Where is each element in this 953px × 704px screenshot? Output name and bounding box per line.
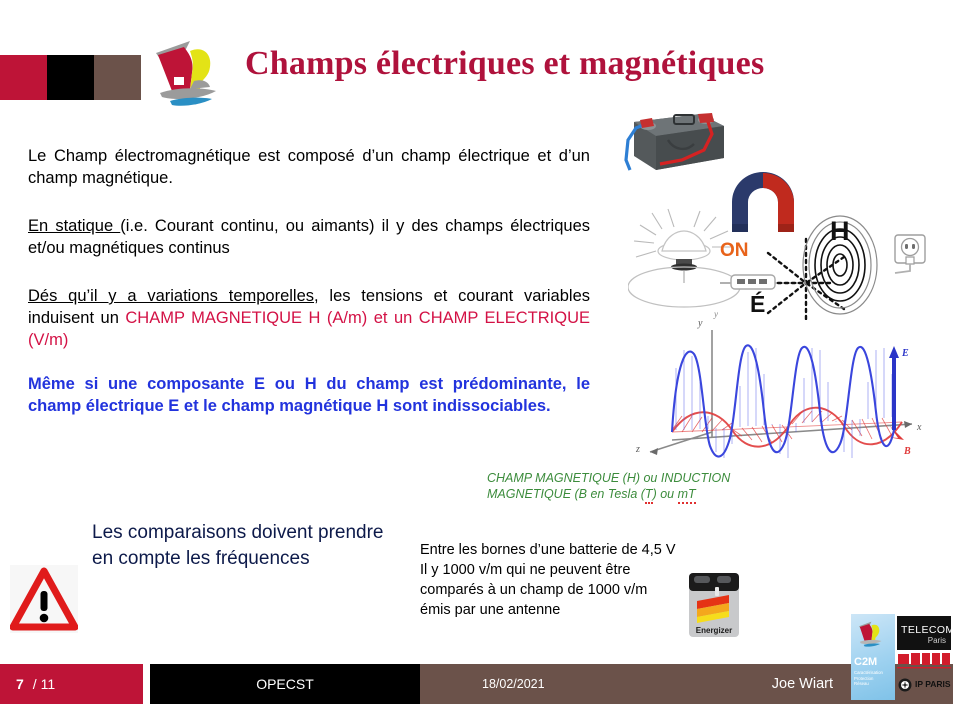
axis-label-y: y (697, 318, 703, 329)
telecom-paris-logo-line-1: TELECOM (901, 624, 953, 636)
svg-text:Energizer: Energizer (696, 626, 732, 635)
paragraph-1: Le Champ électromagnétique est composé d… (28, 145, 590, 189)
field-label-b: B (903, 446, 911, 457)
footer-page-total: / 11 (33, 676, 55, 692)
c2m-head-logo (150, 33, 236, 113)
axis-label-z: z (635, 444, 640, 455)
header-block-black (47, 55, 94, 100)
slide-canvas: Champs électriques et magnétiques Le Cha… (0, 0, 953, 704)
telecom-paris-logo: TELECOM Paris (897, 616, 951, 650)
battery-note-line-3: comparés à un champ de 1000 v/m (420, 580, 680, 600)
warning-triangle-icon (10, 565, 78, 633)
ip-paris-logo: IP PARIS (897, 676, 951, 694)
electromagnetic-wave-diagram: y x z B E (612, 312, 942, 462)
warning-text: Les comparaisons doivent prendre en comp… (92, 520, 392, 572)
chinese-characters-logo (897, 651, 951, 671)
header-block-crimson (0, 55, 47, 100)
green-caption-tesla: T (645, 487, 653, 504)
car-battery-photo (612, 104, 732, 182)
battery-note-line-4: émis par une antenne (420, 600, 680, 620)
battery-note-text: Entre les bornes d’une batterie de 4,5 V… (420, 540, 680, 620)
c2m-logo-subtext: CaractérisationProtectionRéseau (854, 670, 883, 687)
energizer-battery-image: Energizer (683, 565, 745, 643)
battery-note-line-2: Il y 1000 v/m qui ne peuvent être (420, 560, 680, 580)
paragraph-2: En statique (i.e. Courant continu, ou ai… (28, 215, 590, 259)
field-label-e: E (901, 348, 909, 359)
paragraph-3-underlined: Dés qu’il y a variations temporelles (28, 287, 314, 305)
ip-paris-logo-text: IP PARIS (915, 679, 951, 689)
green-caption-line-2-b: ) ou (653, 487, 678, 501)
footer-logos: C2M CaractérisationProtectionRéseau TELE… (851, 614, 951, 702)
green-caption: CHAMP MAGNETIQUE (H) ou INDUCTION MAGNET… (487, 470, 777, 502)
header-block-brown (94, 55, 141, 100)
footer-author: Joe Wiart (772, 676, 833, 692)
green-caption-line-2-a: MAGNETIQUE (B en Tesla ( (487, 487, 645, 501)
header-color-blocks (0, 55, 141, 100)
footer-page-indicator: 7 / 11 (0, 664, 143, 704)
label-h-field: H (830, 216, 850, 247)
green-caption-line-2: MAGNETIQUE (B en Tesla (T) ou mT (487, 486, 777, 502)
label-e-field: É (750, 291, 765, 318)
c2m-logo-box: C2M CaractérisationProtectionRéseau (851, 614, 895, 700)
footer-gap (143, 664, 150, 704)
paragraph-4-blue: Même si une composante E ou H du champ e… (28, 373, 590, 417)
paragraph-3: Dés qu’il y a variations temporelles, le… (28, 285, 590, 351)
paragraph-2-underlined: En statique (28, 217, 120, 235)
footer-page-current: 7 (16, 676, 24, 692)
page-title: Champs électriques et magnétiques (245, 45, 935, 83)
footer-date: 18/02/2021 (482, 677, 545, 691)
wall-outlet-icon (893, 233, 933, 275)
green-caption-line-1: CHAMP MAGNETIQUE (H) ou INDUCTION (487, 470, 777, 486)
body-text-column: Le Champ électromagnétique est composé d… (28, 145, 590, 417)
c2m-logo-text: C2M (854, 656, 877, 668)
ip-paris-mark-icon (898, 678, 912, 692)
label-on: ON (720, 240, 749, 262)
green-caption-mt: mT (678, 487, 696, 504)
c2m-head-icon (856, 618, 890, 650)
telecom-paris-logo-line-2: Paris (928, 636, 946, 645)
slide-footer: 7 / 11 OPECST 18/02/2021 Joe Wiart (0, 664, 953, 704)
battery-note-line-1: Entre les bornes d’une batterie de 4,5 V (420, 540, 680, 560)
footer-center-label: OPECST (150, 664, 420, 704)
axis-label-x: x (916, 422, 922, 433)
